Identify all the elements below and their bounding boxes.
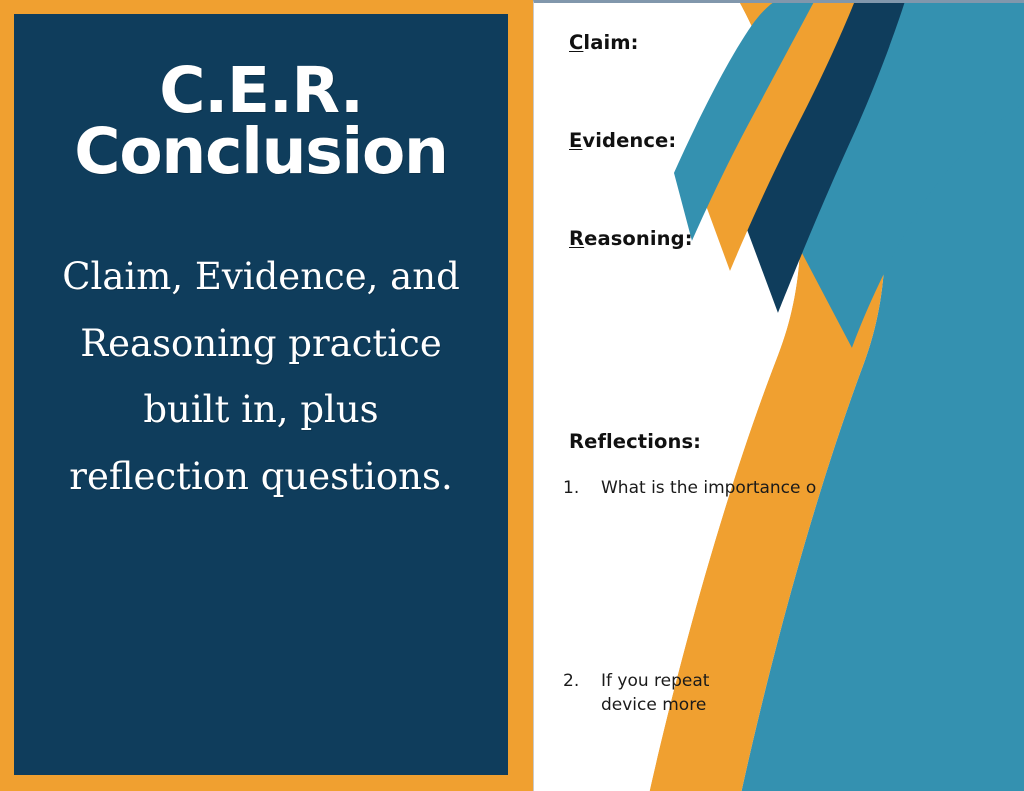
reflection-list-item: 2. If you repeat device more [563, 669, 993, 717]
claim-rest: laim: [583, 31, 638, 54]
card-title-line-1: C.E.R. [14, 60, 508, 121]
card-title-line-2: Conclusion [14, 121, 508, 182]
reflection-list-item: 1. What is the importance o [563, 476, 993, 500]
reasoning-rest: easoning: [584, 227, 693, 250]
reasoning-heading: Reasoning: [569, 227, 693, 250]
evidence-rest: vidence: [582, 129, 676, 152]
evidence-initial: E [569, 129, 582, 152]
card-subtitle: Claim, Evidence, and Reasoning practice … [61, 244, 461, 510]
card-title: C.E.R. Conclusion [14, 60, 508, 182]
reflection-text: What is the importance o [601, 476, 816, 500]
reasoning-initial: R [569, 227, 584, 250]
document-page: Claim: Evidence: Reasoning: Reflections:… [533, 0, 1024, 791]
orange-frame: C.E.R. Conclusion Claim, Evidence, and R… [0, 0, 533, 791]
claim-initial: C [569, 31, 583, 54]
navy-title-card: C.E.R. Conclusion Claim, Evidence, and R… [14, 14, 508, 775]
reflection-text: If you repeat device more [601, 669, 709, 717]
slide-canvas: Claim: Evidence: Reasoning: Reflections:… [0, 0, 1024, 791]
evidence-heading: Evidence: [569, 129, 676, 152]
claim-heading: Claim: [569, 31, 639, 54]
reflection-number: 1. [563, 476, 601, 500]
reflections-heading: Reflections: [569, 430, 701, 453]
reflection-number: 2. [563, 669, 601, 717]
